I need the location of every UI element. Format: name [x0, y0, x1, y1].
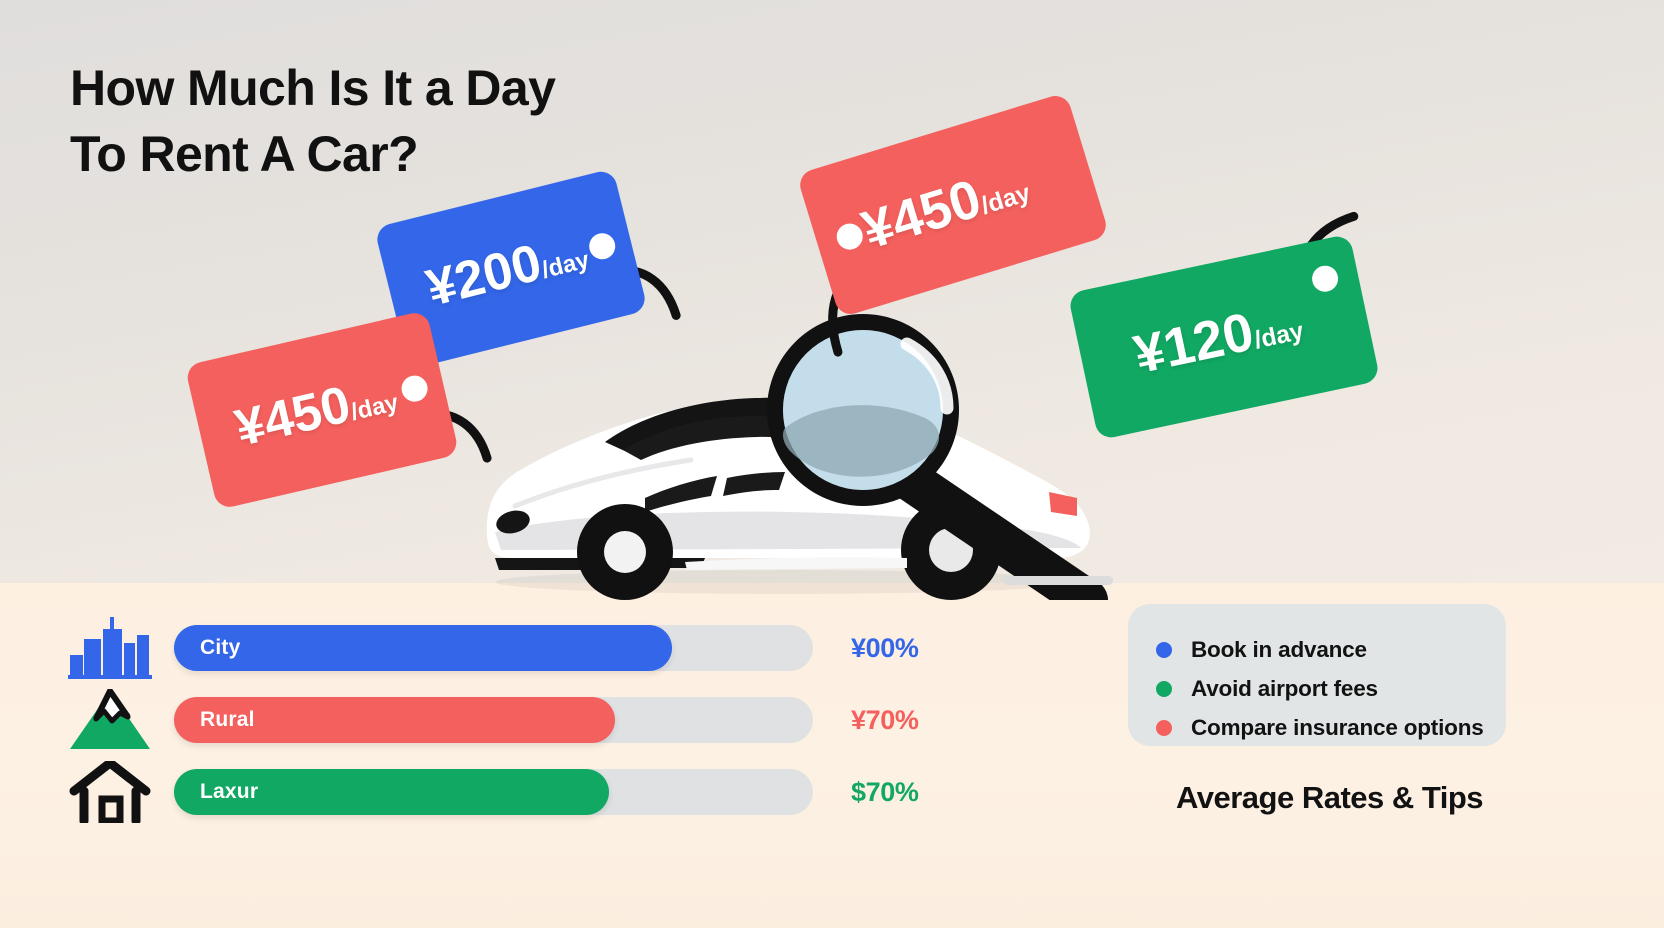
bar-fill-city: City: [174, 625, 672, 671]
bar-row-laxur: Laxur $70%: [68, 756, 938, 828]
bar-row-city: City ¥00%: [68, 612, 938, 684]
bar-label-city: City: [174, 636, 240, 660]
price-tag-red-upper-amount: ¥450/day: [856, 157, 1034, 258]
bar-value-laxur: $70%: [813, 777, 938, 808]
infographic-canvas: How Much Is It a Day To Rent A Car?: [0, 0, 1664, 928]
legend-item-book-in-advance: Book in advance: [1156, 630, 1506, 669]
price-tag-green-hole: [1310, 263, 1341, 294]
bar-fill-laxur: Laxur: [174, 769, 609, 815]
legend-label-compare-insurance: Compare insurance options: [1191, 715, 1484, 741]
bar-value-rural: ¥70%: [813, 705, 938, 736]
price-tag-green-amount: ¥120/day: [1129, 294, 1306, 382]
magnifying-glass-icon: [767, 314, 959, 506]
bar-fill-rural: Rural: [174, 697, 615, 743]
footer-title: Average Rates & Tips: [1176, 780, 1636, 816]
price-tag-red-lower-hole: [399, 373, 430, 404]
mountain-icon: [68, 689, 152, 751]
blue-dot-icon: [1156, 642, 1172, 658]
page-title: How Much Is It a Day To Rent A Car?: [70, 55, 790, 187]
house-icon: [68, 761, 152, 823]
bar-value-city: ¥00%: [813, 633, 938, 664]
red-dot-icon: [1156, 720, 1172, 736]
green-dot-icon: [1156, 681, 1172, 697]
price-tag-red-lower-amount: ¥450/day: [231, 368, 402, 455]
price-tag-blue-hole: [586, 231, 618, 263]
bar-row-rural: Rural ¥70%: [68, 684, 938, 756]
bar-label-rural: Rural: [174, 708, 255, 732]
tips-legend-panel: Book in advance Avoid airport fees Compa…: [1128, 604, 1506, 746]
legend-item-compare-insurance: Compare insurance options: [1156, 708, 1506, 747]
price-tag-blue-amount: ¥200/day: [421, 225, 592, 315]
rate-bar-chart: City ¥00% Rural ¥70%: [68, 612, 938, 828]
bar-track-city: City: [174, 625, 813, 671]
bar-track-laxur: Laxur: [174, 769, 813, 815]
legend-label-book-in-advance: Book in advance: [1191, 637, 1367, 663]
bar-track-rural: Rural: [174, 697, 813, 743]
car-illustration: [455, 300, 1155, 600]
legend-item-avoid-airport-fees: Avoid airport fees: [1156, 669, 1506, 708]
legend-label-avoid-airport-fees: Avoid airport fees: [1191, 676, 1378, 702]
city-skyline-icon: [68, 617, 152, 679]
bar-label-laxur: Laxur: [174, 780, 258, 804]
